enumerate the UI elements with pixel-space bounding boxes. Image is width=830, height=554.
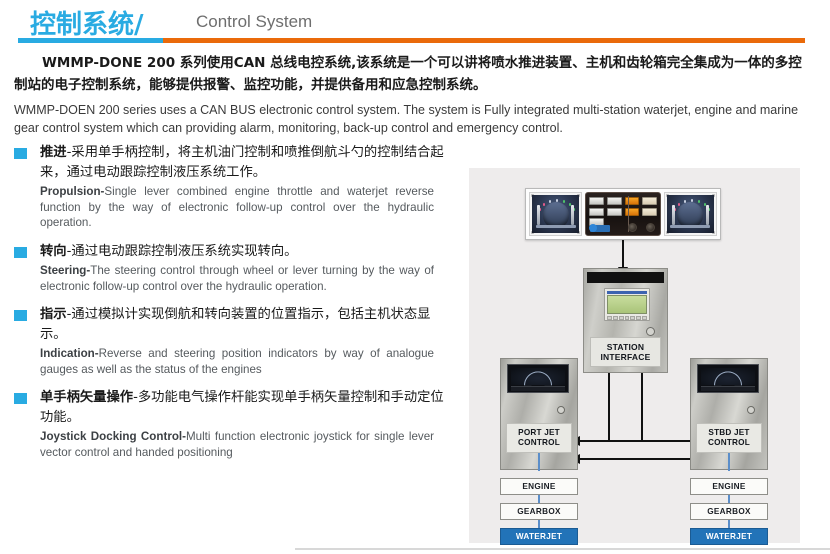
gauge-tick <box>556 199 558 202</box>
feature-cn-steering: 转向-通过电动跟踪控制液压系统实现转向。 <box>40 242 452 262</box>
feature-cn-body-indication: -通过模拟计实现倒航和转向装置的位置指示，包括主机状态显示。 <box>40 307 430 342</box>
indicator-lamp-icon <box>646 327 655 336</box>
feature-en-steering: Steering-The steering control through wh… <box>40 263 452 294</box>
brand-logo-icon <box>590 225 610 232</box>
gauge-unit-left <box>529 192 582 236</box>
jet-display-screen <box>697 364 759 393</box>
hmi-title-bar <box>607 291 647 294</box>
port-jet-label-line1: PORT JET <box>518 428 560 439</box>
station-interface-cabinet: STATION INTERFACE <box>583 268 668 373</box>
feature-list: 推进-采用单手柄控制，将主机油门控制和喷推倒航斗勺的控制结合起来，通过电动跟踪控… <box>12 143 452 471</box>
hmi-display-unit <box>604 288 650 321</box>
jet-display-screen <box>507 364 569 393</box>
hmi-key <box>630 316 635 320</box>
stbd-driveline-stack: ENGINE GEARBOX WATERJET <box>690 478 768 545</box>
jet-screen-footer <box>701 386 755 391</box>
gauge-tick <box>698 200 700 203</box>
page-header: 控制系统/ Control System <box>0 0 830 48</box>
double-arrow-icon-lower <box>579 458 703 460</box>
keypad-button-amber <box>625 197 640 205</box>
jet-screen-graphic <box>511 368 565 385</box>
port-jet-label-line2: CONTROL <box>518 438 560 449</box>
stbd-jet-label-line2: CONTROL <box>708 438 750 449</box>
jet-to-engine-connector <box>538 453 540 471</box>
jet-screen-graphic <box>701 368 755 385</box>
station-interface-label: STATION INTERFACE <box>590 337 661 367</box>
control-system-diagram: STATION INTERFACE PORT JET CONTROL <box>469 168 800 543</box>
keypad-button-amber <box>625 208 640 216</box>
hmi-key <box>613 316 618 320</box>
arc-gauge-icon <box>714 371 742 385</box>
feature-item-joystick: 单手柄矢量操作-多功能电气操作杆能实现单手柄矢量控制和手动定位功能。 Joyst… <box>12 388 452 460</box>
stack-connector <box>500 495 578 503</box>
hmi-keypad <box>607 316 647 320</box>
hmi-lcd-screen <box>607 295 647 314</box>
hmi-key <box>642 316 647 320</box>
bridge-console-strip <box>525 188 721 240</box>
square-bullet-icon <box>14 393 27 404</box>
knob-row <box>628 223 655 232</box>
feature-cn-body-steering: -通过电动跟踪控制液压系统实现转向。 <box>67 244 298 259</box>
station-label-line1: STATION <box>607 342 644 353</box>
feature-en-title-steering: Steering- <box>40 264 90 277</box>
station-label-line2: INTERFACE <box>601 352 651 363</box>
port-gearbox-box: GEARBOX <box>500 503 578 520</box>
port-waterjet-box: WATERJET <box>500 528 578 545</box>
gauge-tick <box>684 200 686 203</box>
control-keypad-panel <box>585 192 660 236</box>
feature-en-body-indication: Reverse and steering position indicators… <box>40 347 434 376</box>
keypad-button-cream <box>642 208 657 216</box>
port-driveline-stack: ENGINE GEARBOX WATERJET <box>500 478 578 545</box>
keypad-button <box>607 208 622 216</box>
indicator-lamp-icon <box>747 406 755 414</box>
stbd-jet-label-line1: STBD JET <box>708 428 749 439</box>
keypad-button-cream <box>642 197 657 205</box>
gauge-tick <box>691 199 693 202</box>
gauge-tick <box>678 203 680 206</box>
feature-cn-indication: 指示-通过模拟计实现倒航和转向装置的位置指示，包括主机状态显示。 <box>40 305 452 344</box>
rotary-knob-icon <box>628 223 637 232</box>
lever-handle <box>537 205 540 225</box>
feature-item-steering: 转向-通过电动跟踪控制液压系统实现转向。 Steering-The steeri… <box>12 242 452 295</box>
keypad-button <box>607 197 622 205</box>
gauge-tick <box>543 203 545 206</box>
indicator-lamp-icon <box>557 406 565 414</box>
gauge-unit-right <box>664 192 717 236</box>
feature-en-body-steering: The steering control through wheel or le… <box>40 264 434 293</box>
stbd-waterjet-box: WATERJET <box>690 528 768 545</box>
intro-block: WMMP-DONE 200 系列使用CAN 总线电控系统,该系统是一个可以讲将喷… <box>14 52 814 137</box>
page-title-en: Control System <box>196 12 312 32</box>
analogue-gauge-icon <box>667 195 714 233</box>
analogue-gauge-icon <box>532 195 579 233</box>
feature-cn-propulsion: 推进-采用单手柄控制，将主机油门控制和喷推倒航斗勺的控制结合起来，通过电动跟踪控… <box>40 143 452 182</box>
connector-line-right <box>641 373 643 441</box>
feature-en-indication: Indication-Reverse and steering position… <box>40 346 452 377</box>
gauge-tick <box>549 200 551 203</box>
gauge-tick <box>563 200 565 203</box>
arrow-down-icon <box>622 240 624 268</box>
square-bullet-icon <box>14 148 27 159</box>
stbd-gearbox-box: GEARBOX <box>690 503 768 520</box>
keypad-button <box>589 197 604 205</box>
feature-cn-body-propulsion: -采用单手柄控制，将主机油门控制和喷推倒航斗勺的控制结合起来，通过电动跟踪控制液… <box>40 145 444 180</box>
rotary-knob-icon <box>646 223 655 232</box>
stbd-jet-control-label: STBD JET CONTROL <box>696 423 762 453</box>
page-title-cn: 控制系统/ <box>30 4 144 41</box>
cabinet-top-bar <box>587 272 664 283</box>
port-jet-control-cabinet: PORT JET CONTROL <box>500 358 578 470</box>
stack-connector <box>690 520 768 528</box>
hmi-key <box>619 316 624 320</box>
port-engine-box: ENGINE <box>500 478 578 495</box>
hmi-key <box>636 316 641 320</box>
feature-cn-joystick: 单手柄矢量操作-多功能电气操作杆能实现单手柄矢量控制和手动定位功能。 <box>40 388 452 427</box>
lever-handle <box>706 205 709 225</box>
feature-en-joystick: Joystick Docking Control-Multi function … <box>40 429 452 460</box>
stack-connector <box>500 520 578 528</box>
stbd-jet-control-cabinet: STBD JET CONTROL <box>690 358 768 470</box>
feature-cn-title-steering: 转向 <box>40 244 67 259</box>
stack-connector <box>690 495 768 503</box>
feature-item-propulsion: 推进-采用单手柄控制，将主机油门控制和喷推倒航斗勺的控制结合起来，通过电动跟踪控… <box>12 143 452 231</box>
keypad-button <box>589 208 604 216</box>
hmi-key <box>625 316 630 320</box>
feature-item-indication: 指示-通过模拟计实现倒航和转向装置的位置指示，包括主机状态显示。 Indicat… <box>12 305 452 377</box>
lever-handle <box>571 205 574 225</box>
feature-en-propulsion: Propulsion-Single lever combined engine … <box>40 184 452 231</box>
jet-screen-footer <box>511 386 565 391</box>
feature-en-title-joystick: Joystick Docking Control- <box>40 430 186 443</box>
header-rule-blue <box>18 38 164 43</box>
stbd-engine-box: ENGINE <box>690 478 768 495</box>
intro-paragraph-en: WMMP-DOEN 200 series uses a CAN BUS elec… <box>14 101 814 137</box>
double-arrow-icon-upper <box>579 440 703 442</box>
lever-handle <box>672 205 675 225</box>
jet-to-engine-connector <box>728 453 730 471</box>
feature-cn-title-propulsion: 推进 <box>40 145 67 160</box>
header-rule-orange <box>163 38 805 43</box>
feature-en-title-propulsion: Propulsion- <box>40 185 104 198</box>
footer-divider <box>295 548 830 550</box>
square-bullet-icon <box>14 247 27 258</box>
hmi-key <box>607 316 612 320</box>
port-jet-control-label: PORT JET CONTROL <box>506 423 572 453</box>
arc-gauge-icon <box>524 371 552 385</box>
intro-paragraph-cn: WMMP-DONE 200 系列使用CAN 总线电控系统,该系统是一个可以讲将喷… <box>14 52 814 96</box>
connector-line-left <box>608 373 610 441</box>
square-bullet-icon <box>14 310 27 321</box>
feature-en-title-indication: Indication- <box>40 347 99 360</box>
feature-cn-title-indication: 指示 <box>40 307 67 322</box>
feature-cn-title-joystick: 单手柄矢量操作 <box>40 390 133 405</box>
